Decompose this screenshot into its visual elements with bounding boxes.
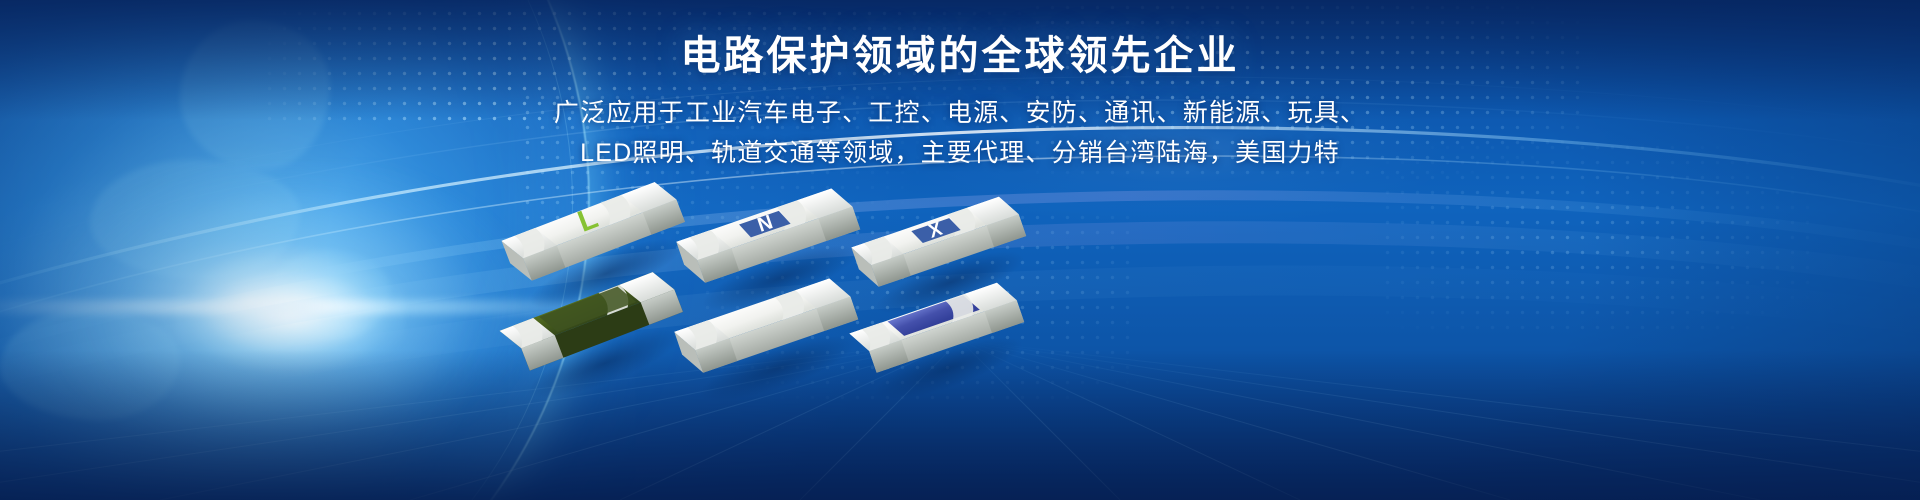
banner-headline: 电路保护领域的全球领先企业 bbox=[0, 34, 1920, 79]
hero-banner: 电路保护领域的全球领先企业 广泛应用于工业汽车电子、工控、电源、安防、通讯、新能… bbox=[0, 0, 1920, 500]
banner-text-block: 电路保护领域的全球领先企业 广泛应用于工业汽车电子、工控、电源、安防、通讯、新能… bbox=[0, 34, 1920, 174]
banner-subtitle-line1: 广泛应用于工业汽车电子、工控、电源、安防、通讯、新能源、玩具、 bbox=[554, 99, 1366, 127]
banner-subtitle: 广泛应用于工业汽车电子、工控、电源、安防、通讯、新能源、玩具、 LED照明、轨道… bbox=[0, 93, 1920, 174]
banner-subtitle-line2: LED照明、轨道交通等领域，主要代理、分销台湾陆海，美国力特 bbox=[0, 133, 1920, 174]
